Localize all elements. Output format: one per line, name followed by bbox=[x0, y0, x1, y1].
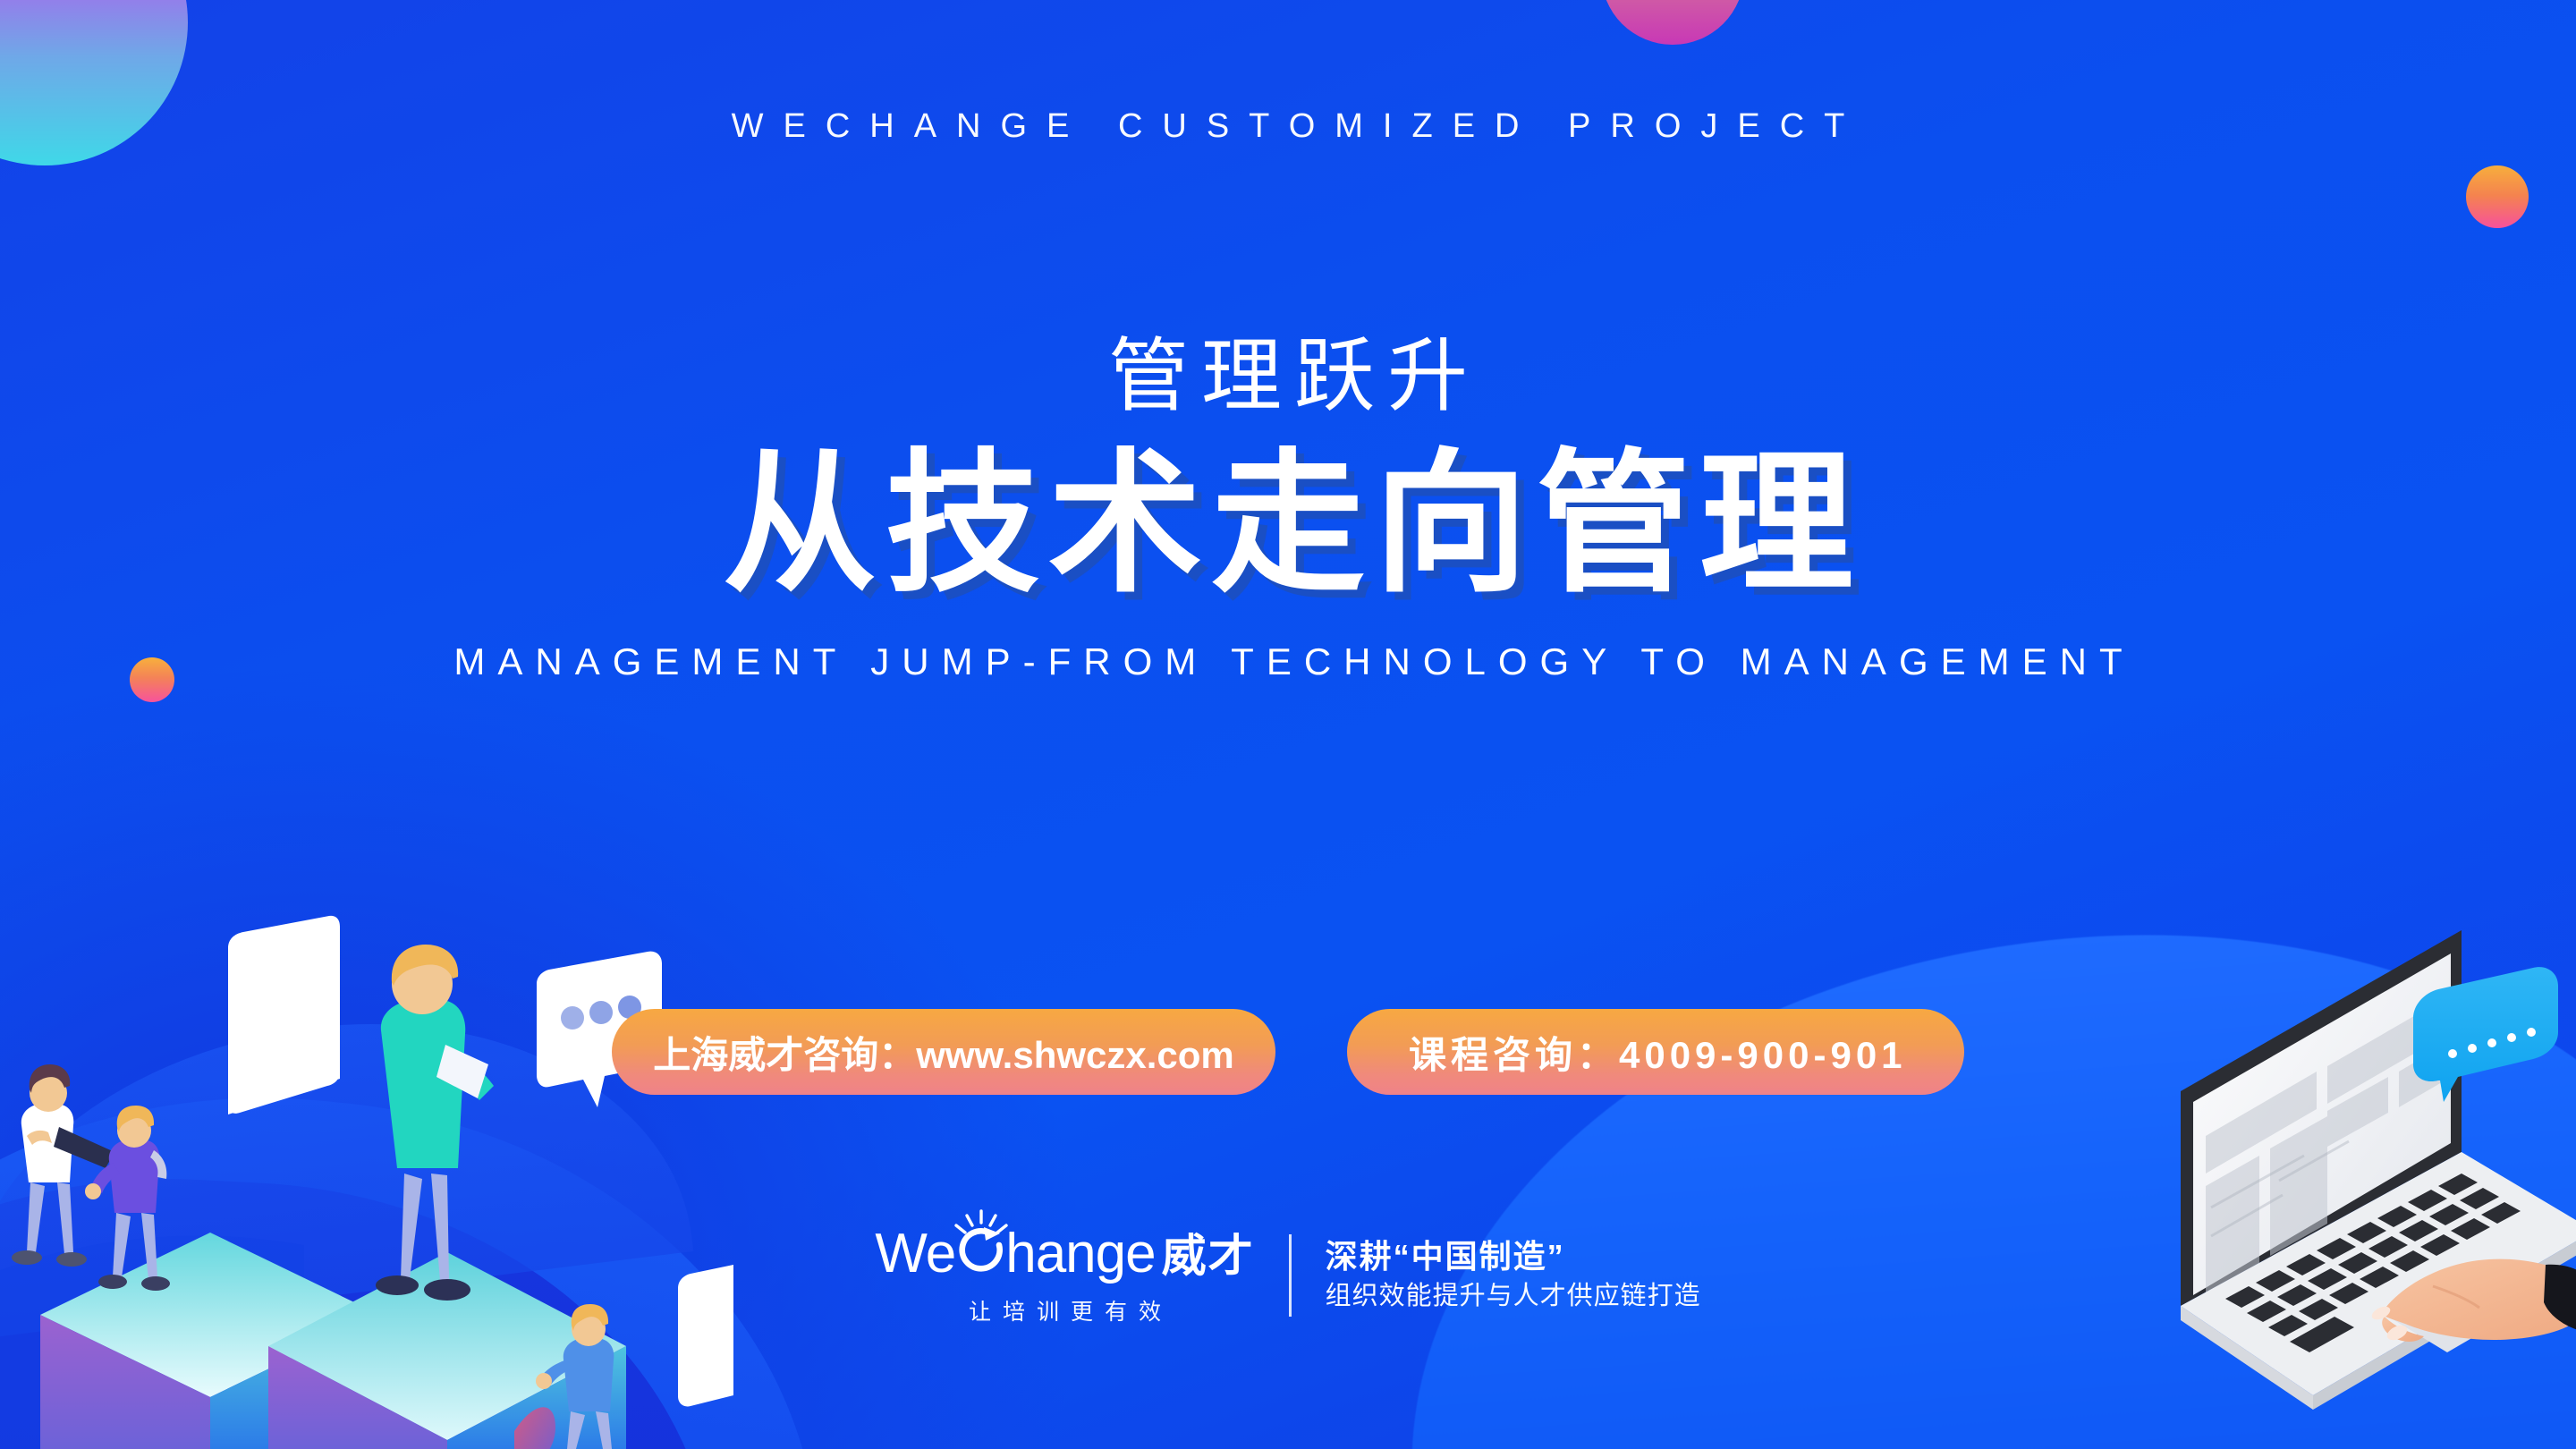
subtitle-chinese: 管理跃升 bbox=[0, 331, 2576, 424]
contact-pill-row: 上海威才咨询：www.shwczx.com 课程咨询：4009-900-901 bbox=[0, 1009, 2576, 1095]
subtitle-english: MANAGEMENT JUMP-FROM TECHNOLOGY TO MANAG… bbox=[367, 633, 2209, 690]
brand-tagline: 让培训更有效 bbox=[957, 1294, 1173, 1326]
website-pill-button[interactable]: 上海威才咨询：www.shwczx.com bbox=[612, 1009, 1275, 1095]
eyebrow-label: WECHANGE CUSTOMIZED PROJECT bbox=[0, 107, 2576, 146]
footer-divider bbox=[1289, 1234, 1292, 1317]
title-block: 管理跃升 从技术走向管理 MANAGEMENT JUMP-FROM TECHNO… bbox=[0, 331, 2576, 690]
decorative-circle-top-right-icon bbox=[2466, 165, 2529, 228]
poster-canvas: WECHANGE CUSTOMIZED PROJECT 管理跃升 从技术走向管理… bbox=[0, 0, 2576, 1449]
phone-pill-button[interactable]: 课程咨询：4009-900-901 bbox=[1347, 1009, 1964, 1095]
decorative-circle-top-middle-icon bbox=[1601, 0, 1744, 45]
illustration-left-isometric-scene bbox=[0, 894, 733, 1449]
slogan-secondary: 组织效能提升与人才供应链打造 bbox=[1326, 1284, 1701, 1309]
footer-slogan-block: 深耕“中国制造” 组织效能提升与人才供应链打造 bbox=[1326, 1241, 1701, 1309]
logo-text-chinese: 威才 bbox=[1162, 1233, 1255, 1278]
logo-text-we: We bbox=[875, 1226, 955, 1282]
brand-logo[interactable]: We hange 威才 bbox=[875, 1224, 1254, 1326]
footer-bar: We hange 威才 bbox=[0, 1224, 2576, 1326]
sun-cycle-icon bbox=[956, 1229, 1004, 1277]
brand-logo-wordmark: We hange 威才 bbox=[875, 1224, 1254, 1282]
page-title: 从技术走向管理 bbox=[0, 438, 2576, 611]
slogan-primary: 深耕“中国制造” bbox=[1326, 1241, 1701, 1273]
illustration-right-laptop-scene bbox=[2129, 912, 2576, 1449]
logo-text-hange: hange bbox=[1005, 1226, 1155, 1282]
